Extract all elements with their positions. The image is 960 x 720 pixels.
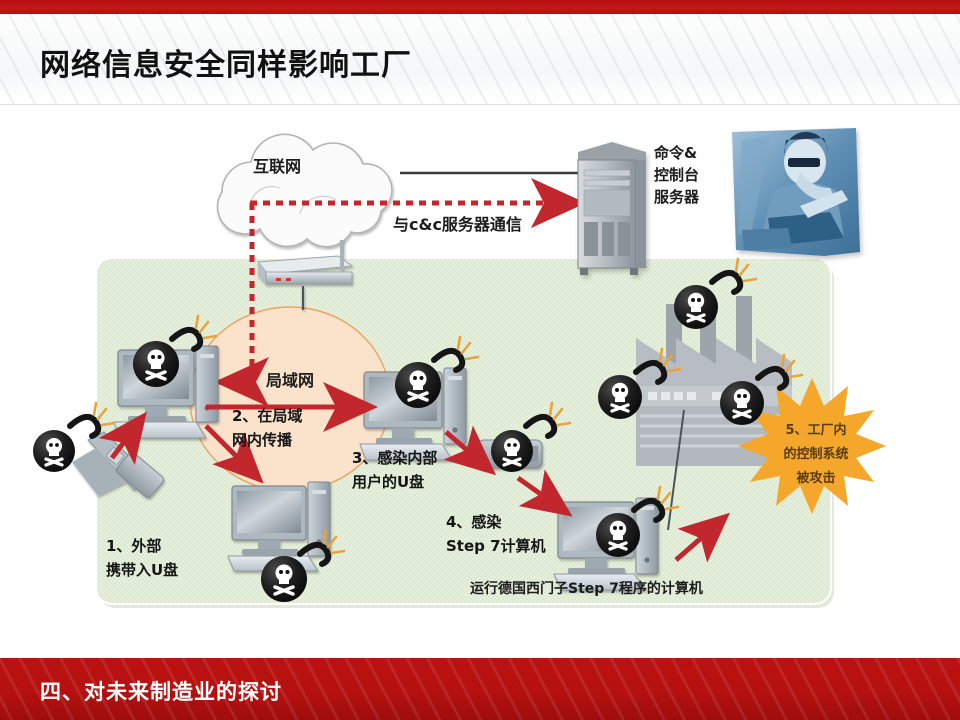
siemens-caption: 运行德国西门子Step 7程序的计算机 [470, 582, 703, 598]
slide-canvas: 网络信息安全同样影响工厂 [0, 0, 960, 720]
step5-label-line-1: 5、工厂内 [756, 422, 876, 440]
top-accent-bar [0, 0, 960, 14]
step2-label-line-1: 2、在局域 [232, 408, 302, 425]
server-label-line-3: 服务器 [654, 188, 699, 206]
step4-label-line-1: 4、感染 [446, 514, 501, 531]
footer-title: 四、对未来制造业的探讨 [40, 676, 282, 706]
cc-link-label: 与c&c服务器通信 [393, 216, 522, 234]
server-label-line-2: 控制台 [654, 166, 699, 184]
page-title: 网络信息安全同样影响工厂 [40, 40, 412, 84]
step5-label-line-3: 被攻击 [756, 470, 876, 488]
cloud-label: 互联网 [253, 158, 301, 176]
hacker-photo-icon [732, 128, 860, 256]
cloud-icon [218, 134, 392, 246]
step1-label-line-2: 携带入U盘 [106, 562, 178, 579]
step2-label-line-2: 网内传播 [232, 432, 292, 449]
step3-label-line-1: 3、感染内部 [352, 450, 437, 467]
header-divider [0, 104, 960, 105]
server-tower-icon [578, 142, 646, 275]
server-label-line-1: 命令& [654, 144, 697, 162]
step1-label-line-1: 1、外部 [106, 538, 161, 555]
step3-label-line-2: 用户的U盘 [352, 474, 424, 491]
step4-label-line-2: Step 7计算机 [446, 538, 546, 555]
stuxnet-attack-diagram: 互联网 与c&c服务器通信 命令& 控制台 服务器 局域网 2、在局域 网内传播… [0, 110, 960, 655]
lan-label: 局域网 [266, 372, 314, 390]
step5-label-line-2: 的控制系统 [756, 446, 876, 464]
